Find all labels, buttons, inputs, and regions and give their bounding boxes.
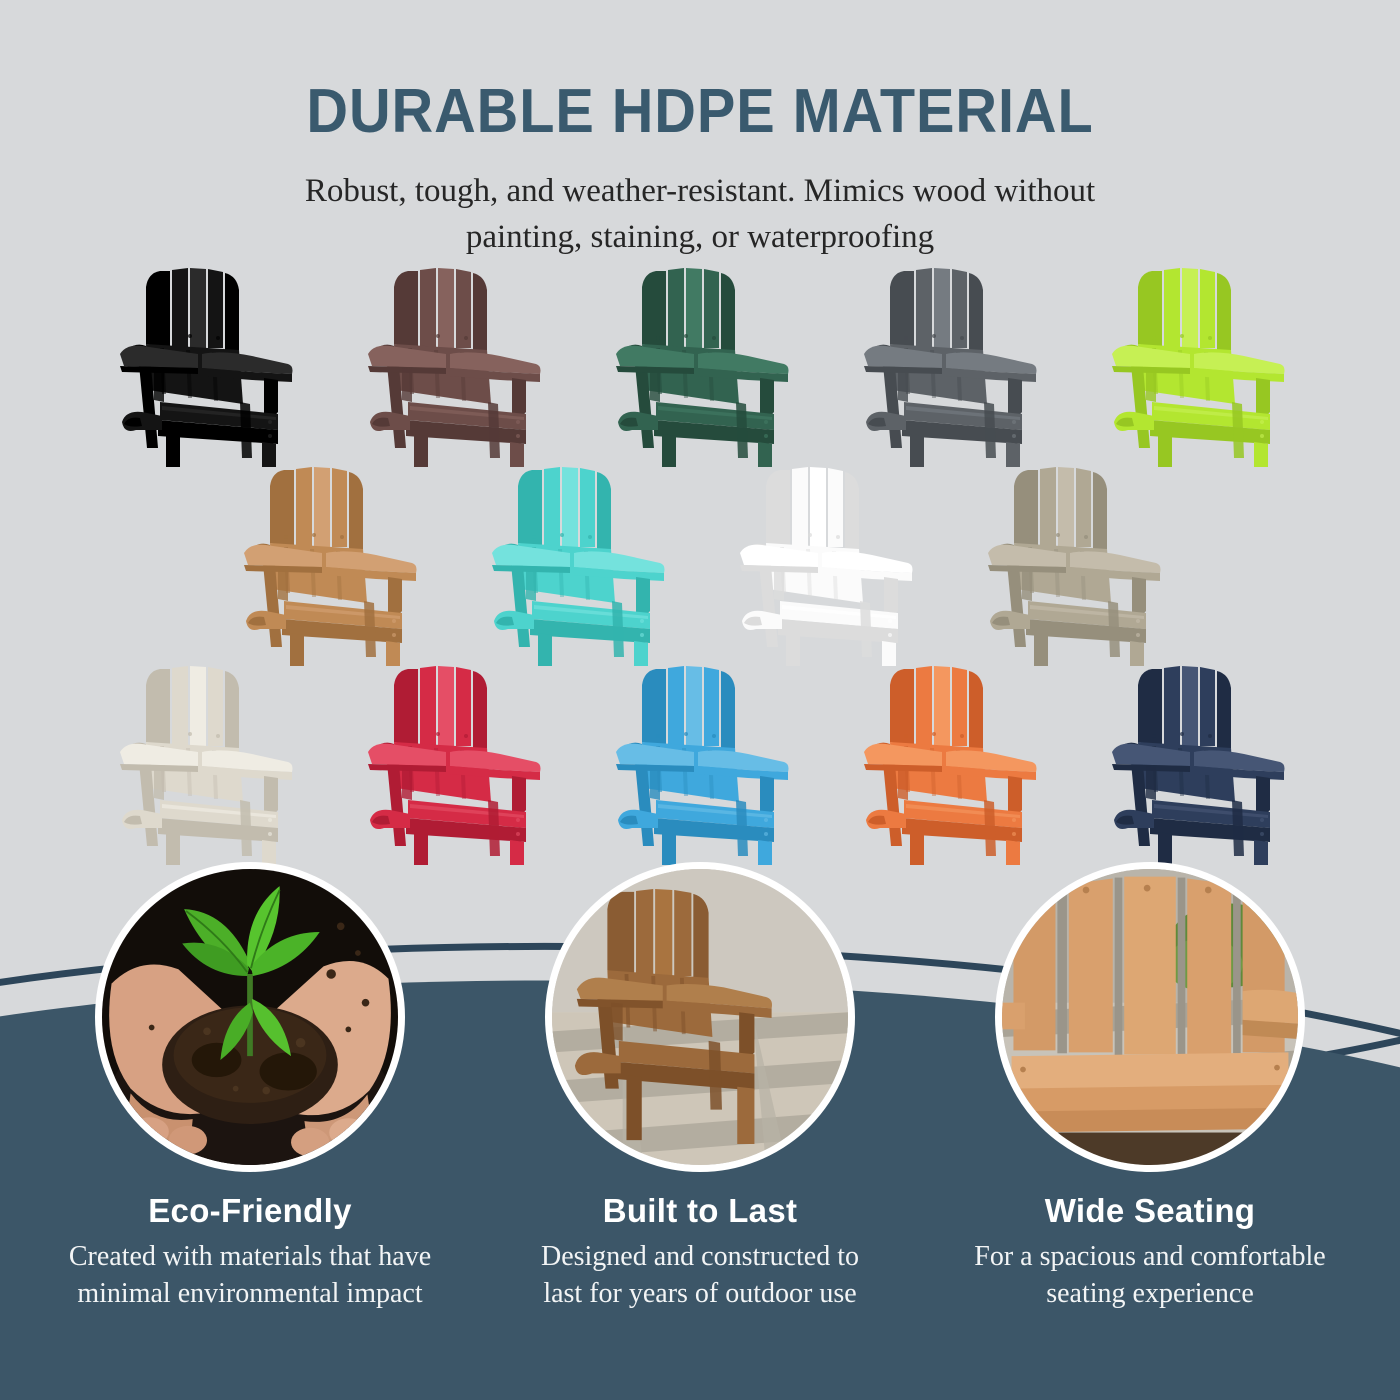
chair-illustration-ivory	[102, 660, 307, 865]
color-swatch-navy[interactable]	[1094, 660, 1299, 865]
adirondack-chair-turquoise	[474, 461, 679, 666]
color-swatch-green[interactable]	[598, 262, 803, 467]
color-swatch-orange[interactable]	[846, 660, 1051, 865]
chair-illustration-khaki	[970, 461, 1175, 666]
swatch-row-3	[0, 660, 1400, 865]
subtitle-line-1: Robust, tough, and weather-resistant. Mi…	[0, 169, 1400, 215]
feature-description-line-2: minimal environmental impact	[69, 1276, 431, 1313]
feature-description-line-2: seating experience	[974, 1276, 1325, 1313]
adirondack-chair-lime	[1094, 262, 1299, 467]
adirondack-chair-white	[722, 461, 927, 666]
adirondack-chair-blue	[598, 660, 803, 865]
feature-image-brown-adirondack-chair-on-patio	[545, 862, 855, 1172]
feature-image-closeup-of-wide-chair-seat	[995, 862, 1305, 1172]
header: DURABLE HDPE MATERIAL Robust, tough, and…	[0, 0, 1400, 260]
feature-title: Built to Last	[603, 1192, 798, 1230]
chair-illustration-green	[598, 262, 803, 467]
chair-illustration-orange	[846, 660, 1051, 865]
feature-description: For a spacious and comfortableseating ex…	[974, 1239, 1325, 1313]
feature-description-line-1: Designed and constructed to	[541, 1239, 859, 1276]
color-swatch-white[interactable]	[722, 461, 927, 666]
adirondack-chair-ivory	[102, 660, 307, 865]
feature-description-line-1: Created with materials that have	[69, 1239, 431, 1276]
color-swatch-gray[interactable]	[846, 262, 1051, 467]
color-swatch-khaki[interactable]	[970, 461, 1175, 666]
feature-card-2: Built to LastDesigned and constructed to…	[490, 862, 910, 1313]
adirondack-chair-navy	[1094, 660, 1299, 865]
swatch-row-2	[0, 461, 1400, 666]
feature-title: Eco-Friendly	[148, 1192, 351, 1230]
color-swatch-grid	[0, 262, 1400, 865]
adirondack-chair-brown	[350, 262, 555, 467]
adirondack-chair-red	[350, 660, 555, 865]
chair-illustration-red	[350, 660, 555, 865]
color-swatch-red[interactable]	[350, 660, 555, 865]
color-swatch-teak[interactable]	[226, 461, 431, 666]
feature-description-line-1: For a spacious and comfortable	[974, 1239, 1325, 1276]
adirondack-chair-gray	[846, 262, 1051, 467]
feature-section: Eco-FriendlyCreated with materials that …	[0, 862, 1400, 1313]
wide-seat-closeup-image	[1002, 869, 1298, 1165]
feature-description: Designed and constructed tolast for year…	[541, 1239, 859, 1313]
hands-holding-seedling-image	[102, 869, 398, 1165]
chair-illustration-navy	[1094, 660, 1299, 865]
swatch-row-1	[0, 262, 1400, 467]
chair-illustration-gray	[846, 262, 1051, 467]
chair-illustration-blue	[598, 660, 803, 865]
color-swatch-black[interactable]	[102, 262, 307, 467]
feature-row: Eco-FriendlyCreated with materials that …	[0, 862, 1400, 1313]
feature-description-line-2: last for years of outdoor use	[541, 1276, 859, 1313]
color-swatch-blue[interactable]	[598, 660, 803, 865]
page-subtitle: Robust, tough, and weather-resistant. Mi…	[0, 169, 1400, 260]
chair-illustration-white	[722, 461, 927, 666]
feature-card-3: Wide SeatingFor a spacious and comfortab…	[940, 862, 1360, 1313]
chair-illustration-turquoise	[474, 461, 679, 666]
chair-illustration-teak	[226, 461, 431, 666]
color-swatch-ivory[interactable]	[102, 660, 307, 865]
color-swatch-turquoise[interactable]	[474, 461, 679, 666]
adirondack-chair-orange	[846, 660, 1051, 865]
feature-description: Created with materials that haveminimal …	[69, 1239, 431, 1313]
adirondack-chair-black	[102, 262, 307, 467]
chair-illustration-lime	[1094, 262, 1299, 467]
color-swatch-lime[interactable]	[1094, 262, 1299, 467]
chair-illustration-brown	[350, 262, 555, 467]
feature-card-1: Eco-FriendlyCreated with materials that …	[40, 862, 460, 1313]
adirondack-chair-green	[598, 262, 803, 467]
brown-chair-on-patio-image	[552, 869, 848, 1165]
color-swatch-brown[interactable]	[350, 262, 555, 467]
page-title: DURABLE HDPE MATERIAL	[49, 76, 1351, 147]
feature-image-hands-holding-seedling-in-soil	[95, 862, 405, 1172]
adirondack-chair-teak	[226, 461, 431, 666]
subtitle-line-2: painting, staining, or waterproofing	[0, 215, 1400, 261]
chair-illustration-black	[102, 262, 307, 467]
feature-title: Wide Seating	[1045, 1192, 1256, 1230]
adirondack-chair-khaki	[970, 461, 1175, 666]
